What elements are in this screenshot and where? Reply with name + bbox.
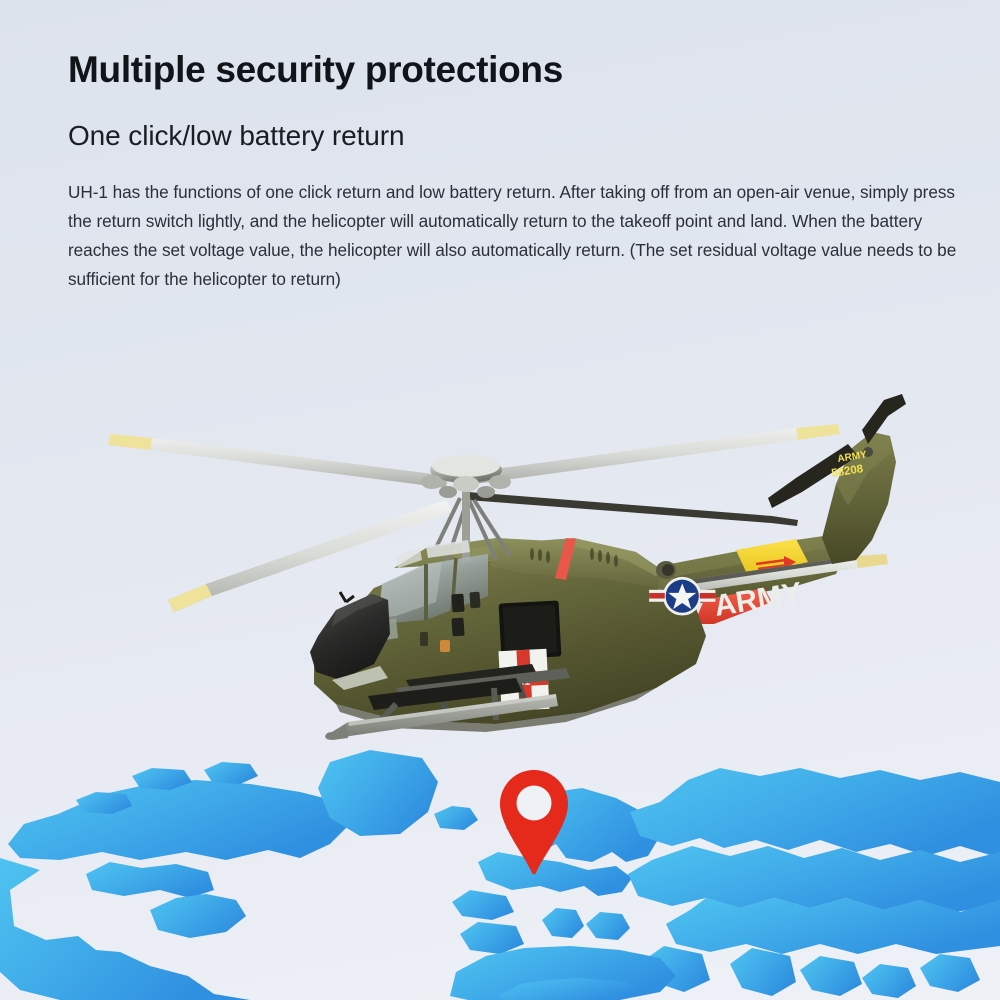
text-block: Multiple security protections One click/… [68,48,968,294]
product-feature-page: Multiple security protections One click/… [0,0,1000,1000]
feature-subtitle: One click/low battery return [68,120,968,152]
feature-description: UH-1 has the functions of one click retu… [68,178,960,294]
location-pin-icon [497,768,571,876]
rotor-hub [421,455,511,498]
page-title: Multiple security protections [68,48,968,92]
product-image-helicopter: ARMY 58208 [96,388,908,744]
main-rotor-blades-rear [458,424,840,526]
tail-fin: ARMY 58208 [768,394,906,564]
